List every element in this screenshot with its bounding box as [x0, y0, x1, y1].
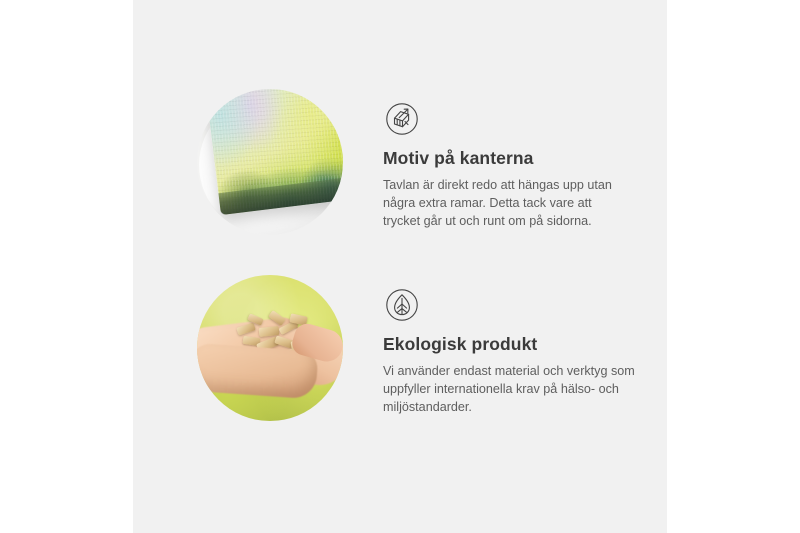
hands-holding-wood-chips-photo: [197, 275, 343, 421]
canvas-print-corner: [206, 89, 343, 215]
product-feature-banner: Motiv på kanterna Tavlan är direkt redo …: [0, 0, 800, 533]
feature-description: Vi använder endast material och verktyg …: [383, 362, 651, 417]
feature-text-column: Motiv på kanterna Tavlan är direkt redo …: [350, 82, 629, 231]
feature-block-eco: Ekologisk produkt Vi använder endast mat…: [190, 268, 651, 428]
feature-text-column: Ekologisk produkt Vi använder endast mat…: [350, 268, 651, 417]
feature-title: Ekologisk produkt: [383, 334, 651, 356]
feature-block-edges: Motiv på kanterna Tavlan är direkt redo …: [190, 82, 629, 242]
feature-description: Tavlan är direkt redo att hängas upp uta…: [383, 176, 629, 231]
content-panel: [133, 0, 667, 533]
feature-title: Motiv på kanterna: [383, 148, 629, 170]
canvas-print-corner-photo: [197, 89, 343, 235]
leaf-icon: [383, 286, 421, 324]
canvas-edge-print-icon: [383, 100, 421, 138]
feature-photo-wrap: [190, 82, 350, 242]
feature-photo-wrap: [190, 268, 350, 428]
